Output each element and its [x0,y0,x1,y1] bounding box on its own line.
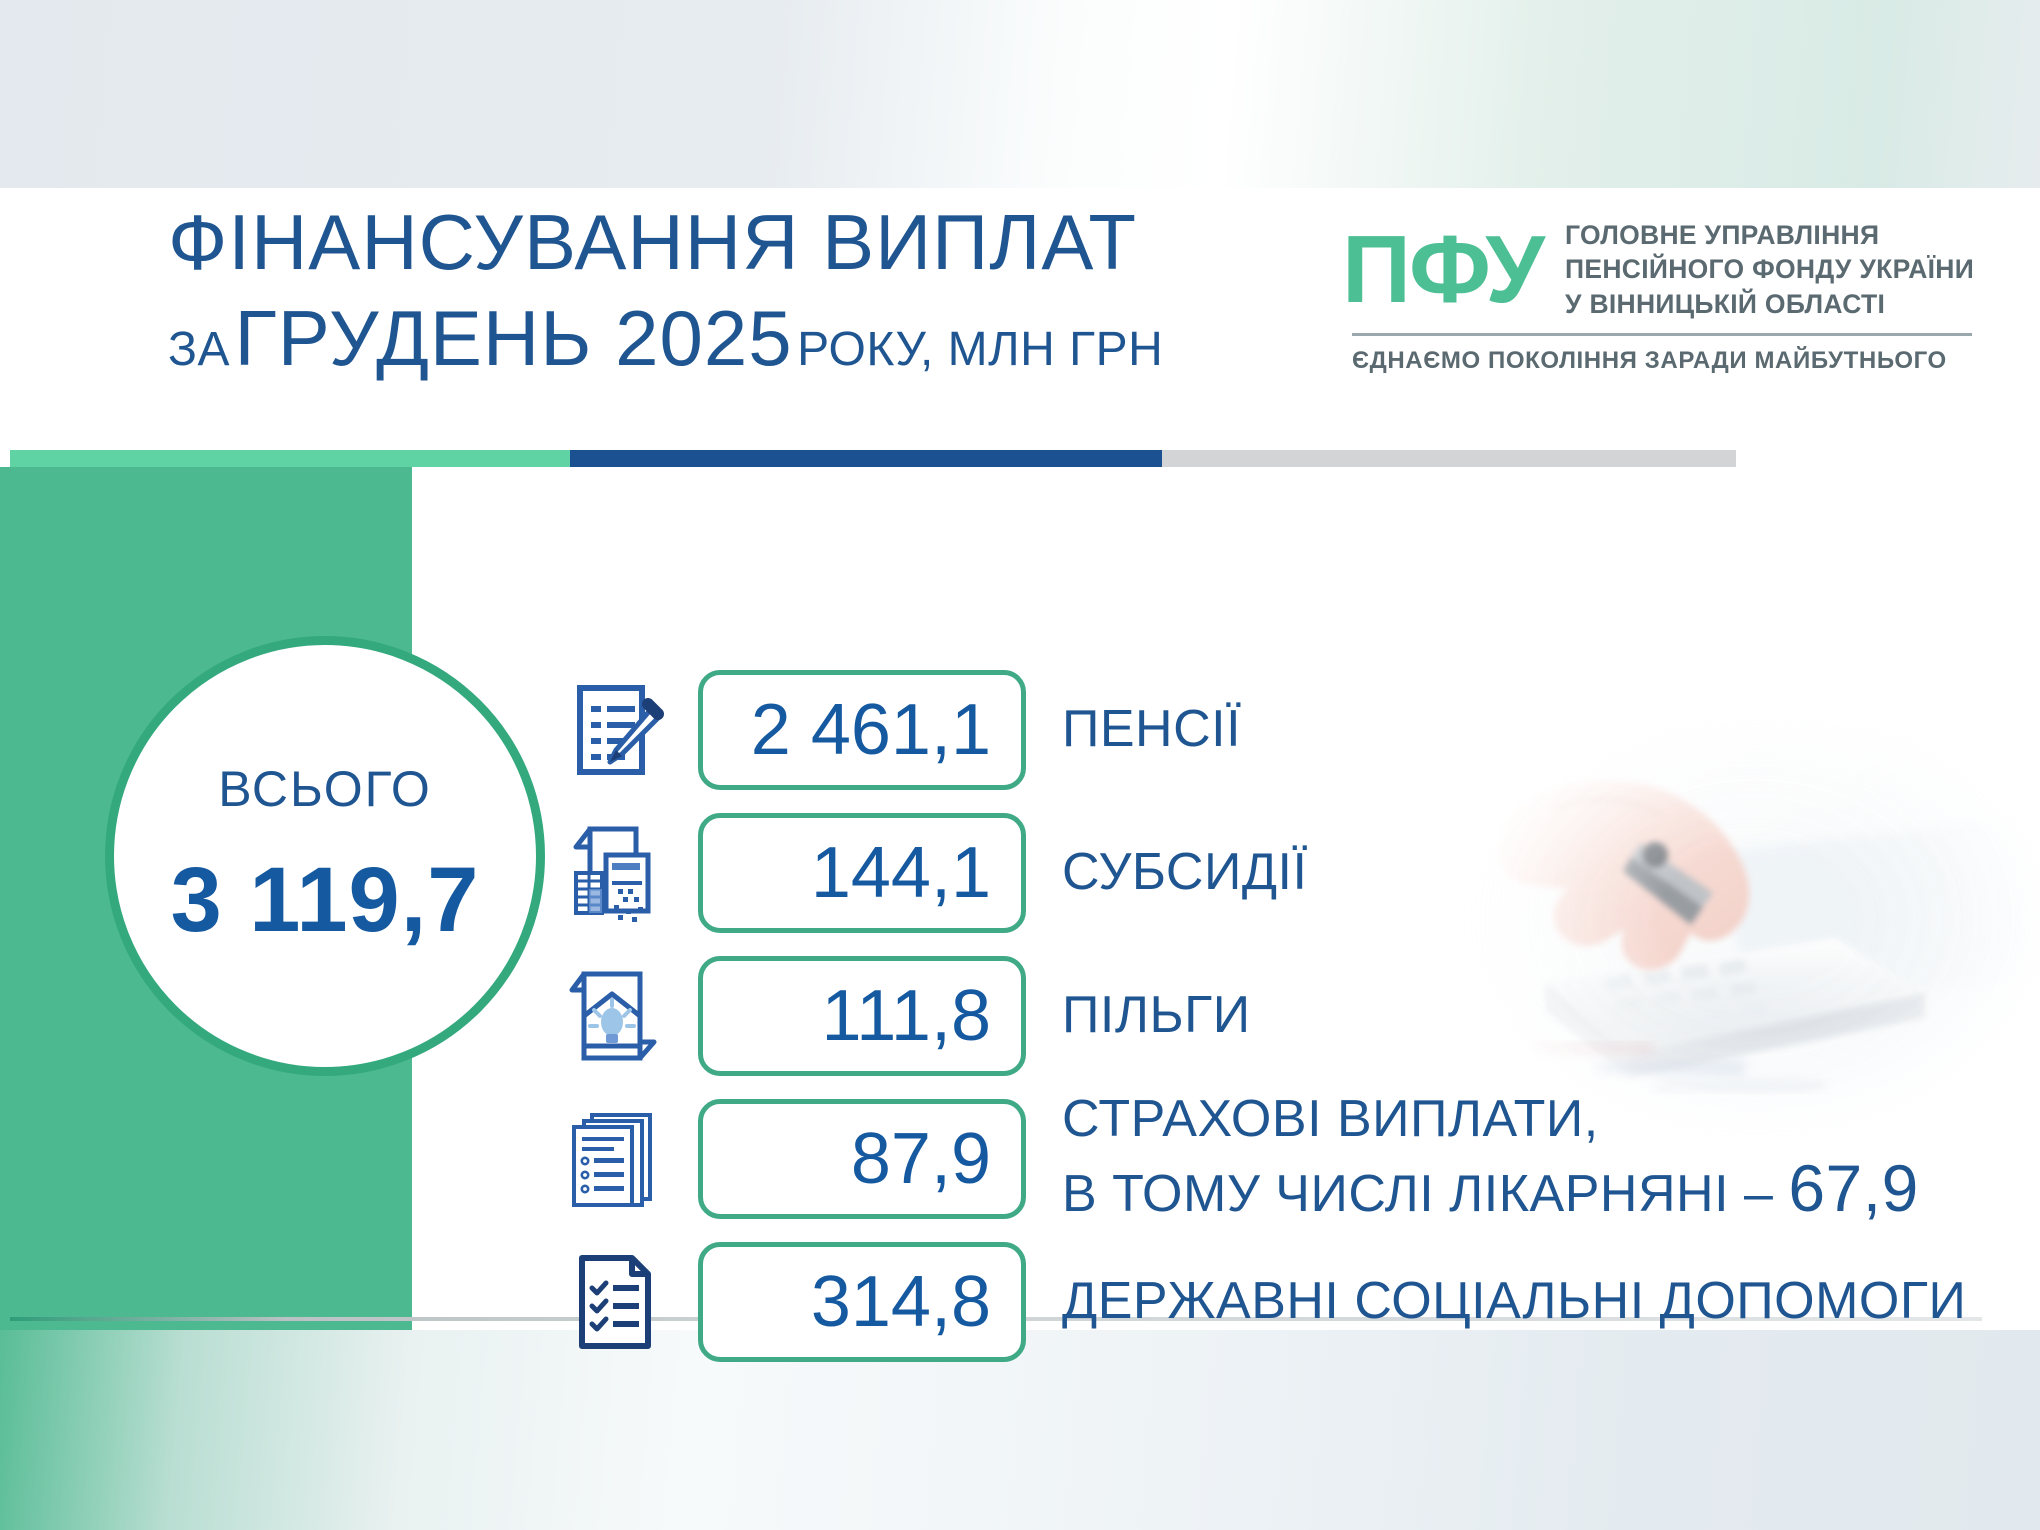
payment-label-text: ПЕНСІЇ [1062,700,1241,758]
title-suffix: РОКУ, МЛН ГРН [797,323,1163,376]
total-value: 3 119,7 [171,848,480,953]
payment-value: 314,8 [811,1261,991,1343]
total-label: ВСЬОГО [218,760,432,818]
payment-value-box: 111,8 [698,956,1026,1076]
payment-value: 111,8 [822,975,992,1057]
organisation-logo: ПФУ ГОЛОВНЕ УПРАВЛІННЯ ПЕНСІЙНОГО ФОНДУ … [1342,218,1982,375]
divider-segment-green [10,450,570,467]
infographic-canvas: ФІНАНСУВАННЯ ВИПЛАТ ЗА ГРУДЕНЬ 2025 РОКУ… [0,0,2040,1530]
logo-text-line-1: ГОЛОВНЕ УПРАВЛІННЯ [1565,218,1974,252]
payment-row: 87,9 СТРАХОВІ ВИПЛАТИ, В ТОМУ ЧИСЛІ ЛІКА… [560,1087,1980,1230]
checklist-document-icon [560,1246,672,1358]
payment-value: 144,1 [811,832,991,914]
divider-segment-gray [1162,450,1736,467]
payment-row: 2 461,1 ПЕНСІЇ [560,658,1980,801]
payment-value-box: 144,1 [698,813,1026,933]
house-bulb-icon [560,960,672,1072]
payment-label-text: ПІЛЬГИ [1062,986,1251,1044]
payment-value-box: 87,9 [698,1099,1026,1219]
payment-label-sub: В ТОМУ ЧИСЛІ ЛІКАРНЯНІ – 67,9 [1062,1150,1919,1228]
payment-row: 314,8 ДЕРЖАВНІ СОЦІАЛЬНІ ДОПОМОГИ [560,1230,1980,1373]
logo-divider-rule [1352,333,1972,336]
payment-label-text: ДЕРЖАВНІ СОЦІАЛЬНІ ДОПОМОГИ [1062,1272,1966,1330]
title-prefix: ЗА [168,323,230,376]
logo-tagline: ЄДНАЄМО ПОКОЛІННЯ ЗАРАДИ МАЙБУТНЬОГО [1352,347,1982,375]
pfu-logo-mark: ПФУ [1342,222,1543,318]
payment-label-text: СУБСИДІЇ [1062,843,1307,901]
payment-row: 111,8 ПІЛЬГИ [560,944,1980,1087]
payment-label: ДЕРЖАВНІ СОЦІАЛЬНІ ДОПОМОГИ [1062,1271,1966,1332]
payment-label: СТРАХОВІ ВИПЛАТИ, В ТОМУ ЧИСЛІ ЛІКАРНЯНІ… [1062,1089,1919,1228]
payment-value-box: 2 461,1 [698,670,1026,790]
payment-row: 144,1 СУБСИДІЇ [560,801,1980,944]
payment-sublabel-text: В ТОМУ ЧИСЛІ ЛІКАРНЯНІ – [1062,1165,1788,1223]
total-summary-circle: ВСЬОГО 3 119,7 [105,636,545,1076]
background-gradient-top [0,0,2040,188]
logo-text-line-3: У ВІННИЦЬКІЙ ОБЛАСТІ [1565,287,1974,321]
content-card: ФІНАНСУВАННЯ ВИПЛАТ ЗА ГРУДЕНЬ 2025 РОКУ… [0,188,2040,1330]
document-pencil-icon [560,674,672,786]
payment-label: ПЕНСІЇ [1062,699,1241,760]
utility-bill-icon [560,817,672,929]
payment-label-text: СТРАХОВІ ВИПЛАТИ, [1062,1089,1919,1150]
payment-value-box: 314,8 [698,1242,1026,1362]
logo-organisation-text: ГОЛОВНЕ УПРАВЛІННЯ ПЕНСІЙНОГО ФОНДУ УКРА… [1565,218,1974,321]
payment-value: 2 461,1 [751,689,991,771]
payment-label: ПІЛЬГИ [1062,985,1251,1046]
header: ФІНАНСУВАННЯ ВИПЛАТ ЗА ГРУДЕНЬ 2025 РОКУ… [0,188,2040,452]
payment-sublabel-value: 67,9 [1788,1151,1918,1225]
header-divider-bar [10,450,1736,467]
divider-segment-blue [570,450,1162,467]
title-line-2: ЗА ГРУДЕНЬ 2025 РОКУ, МЛН ГРН [168,298,1163,380]
title-line-1: ФІНАНСУВАННЯ ВИПЛАТ [168,202,1163,284]
logo-row: ПФУ ГОЛОВНЕ УПРАВЛІННЯ ПЕНСІЙНОГО ФОНДУ … [1342,218,1982,321]
title-period: ГРУДЕНЬ 2025 [234,294,792,382]
payment-value: 87,9 [851,1118,991,1200]
payment-label: СУБСИДІЇ [1062,842,1307,903]
page-title: ФІНАНСУВАННЯ ВИПЛАТ ЗА ГРУДЕНЬ 2025 РОКУ… [168,202,1163,380]
stacked-documents-icon [560,1103,672,1215]
logo-text-line-2: ПЕНСІЙНОГО ФОНДУ УКРАЇНИ [1565,252,1974,286]
payment-rows-list: 2 461,1 ПЕНСІЇ [560,658,1980,1373]
